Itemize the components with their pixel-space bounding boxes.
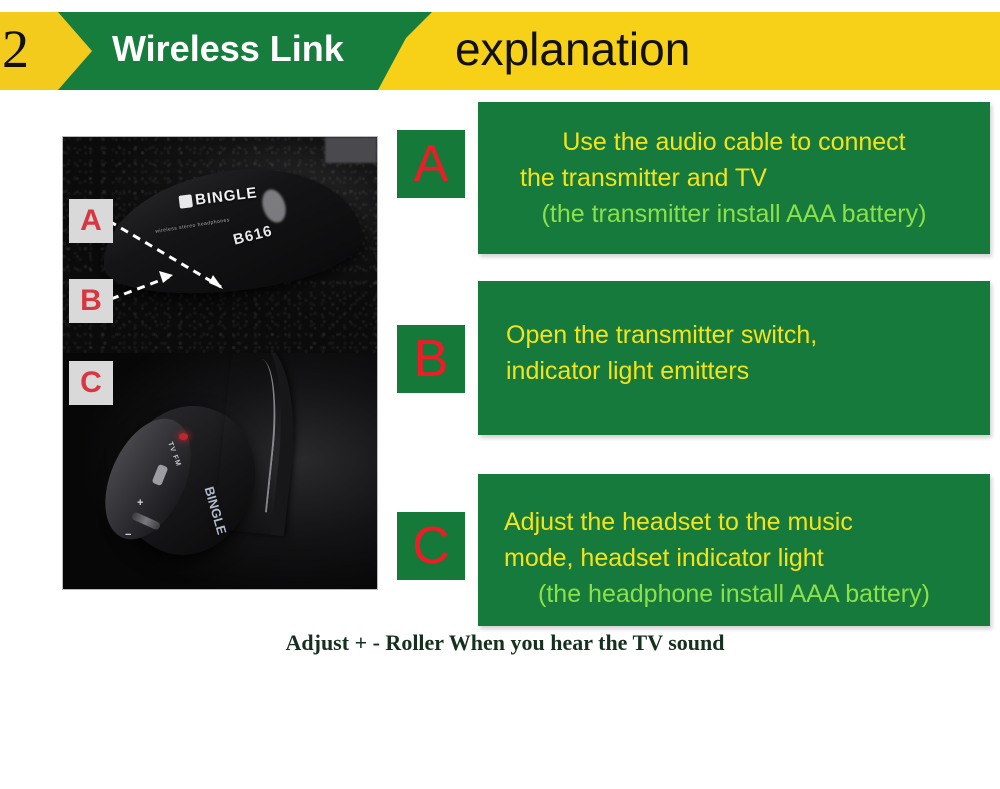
photo-corner-object <box>325 137 377 163</box>
footer-note: Adjust + - Roller When you hear the TV s… <box>0 630 1000 656</box>
photo-badge-a: A <box>69 199 113 243</box>
step-a-line-3: (the transmitter install AAA battery) <box>478 196 990 232</box>
product-photo-column: BINGLE wireless stereo headphones B616 A… <box>62 136 378 590</box>
headset-indicator-led <box>179 433 188 440</box>
transmitter-photo: BINGLE wireless stereo headphones B616 A… <box>63 137 377 353</box>
header-banner: 2 Wireless Link explanation <box>0 12 1000 90</box>
photo-badge-c: C <box>69 361 113 405</box>
brand-mark-icon <box>179 194 193 208</box>
step-badge-c: C <box>397 512 465 580</box>
step-box-c: Adjust the headset to the music mode, he… <box>478 474 990 626</box>
headset-plus-label: + <box>137 497 143 509</box>
step-badge-a: A <box>397 130 465 198</box>
step-box-a: Use the audio cable to connect the trans… <box>478 102 990 254</box>
banner-title: Wireless Link <box>112 26 344 71</box>
step-box-b: Open the transmitter switch, indicator l… <box>478 281 990 435</box>
step-c-line-2: mode, headset indicator light <box>478 540 990 576</box>
step-b-line-2: indicator light emitters <box>478 353 990 389</box>
headset-photo: TV FM BINGLE + − C <box>63 353 377 589</box>
step-a-line-2: the transmitter and TV <box>478 160 990 196</box>
banner-step-number: 2 <box>2 22 28 76</box>
headset-minus-label: − <box>125 529 131 541</box>
step-c-line-1: Adjust the headset to the music <box>478 504 990 540</box>
step-a-line-1: Use the audio cable to connect <box>478 124 990 160</box>
banner-subtitle: explanation <box>455 20 690 80</box>
step-b-line-1: Open the transmitter switch, <box>478 317 990 353</box>
step-c-line-3: (the headphone install AAA battery) <box>478 576 990 612</box>
photo-badge-b: B <box>69 279 113 323</box>
step-badge-b: B <box>397 325 465 393</box>
